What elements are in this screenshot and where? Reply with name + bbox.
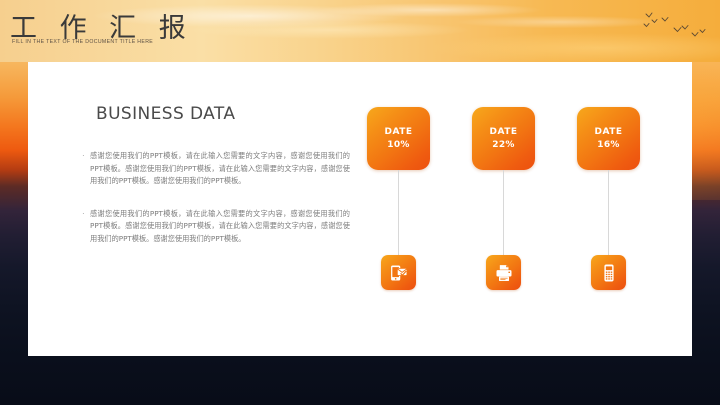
icon-tile-phone-message[interactable] bbox=[381, 255, 416, 290]
connector-line bbox=[503, 170, 504, 255]
content-panel: BUSINESS DATA · 感谢您使用我们的PPT模板，请在此输入您需要的文… bbox=[28, 62, 692, 356]
page-subtitle: FILL IN THE TEXT OF THE DOCUMENT TITLE H… bbox=[12, 39, 153, 45]
connector-line bbox=[608, 170, 609, 255]
date-card-label: DATE bbox=[384, 126, 412, 139]
date-card-label: DATE bbox=[489, 126, 517, 139]
date-card[interactable]: DATE 10% bbox=[367, 107, 430, 170]
list-item-text: 感谢您使用我们的PPT模板，请在此输入您需要的文字内容，感谢您使用我们的PPT模… bbox=[90, 208, 350, 246]
date-card[interactable]: DATE 16% bbox=[577, 107, 640, 170]
date-card[interactable]: DATE 22% bbox=[472, 107, 535, 170]
mobile-phone-icon bbox=[599, 263, 619, 283]
list-item-text: 感谢您使用我们的PPT模板，请在此输入您需要的文字内容，感谢您使用我们的PPT模… bbox=[90, 150, 350, 188]
icon-tile-mobile-phone[interactable] bbox=[591, 255, 626, 290]
bullet-marker-icon: · bbox=[82, 208, 90, 221]
list-item: · 感谢您使用我们的PPT模板，请在此输入您需要的文字内容，感谢您使用我们的PP… bbox=[82, 208, 350, 246]
icon-tile-printer[interactable] bbox=[486, 255, 521, 290]
date-card-value: 22% bbox=[492, 139, 514, 152]
printer-icon bbox=[494, 263, 514, 283]
date-card-value: 16% bbox=[597, 139, 619, 152]
date-card-label: DATE bbox=[594, 126, 622, 139]
connector-line bbox=[398, 170, 399, 255]
slide: 工 作 汇 报 FILL IN THE TEXT OF THE DOCUMENT… bbox=[0, 0, 720, 405]
bullet-marker-icon: · bbox=[82, 150, 90, 163]
list-item: · 感谢您使用我们的PPT模板，请在此输入您需要的文字内容，感谢您使用我们的PP… bbox=[82, 150, 350, 188]
bullet-list: · 感谢您使用我们的PPT模板，请在此输入您需要的文字内容，感谢您使用我们的PP… bbox=[82, 150, 350, 266]
phone-message-icon bbox=[389, 263, 409, 283]
date-card-value: 10% bbox=[387, 139, 409, 152]
section-title: BUSINESS DATA bbox=[96, 104, 235, 124]
